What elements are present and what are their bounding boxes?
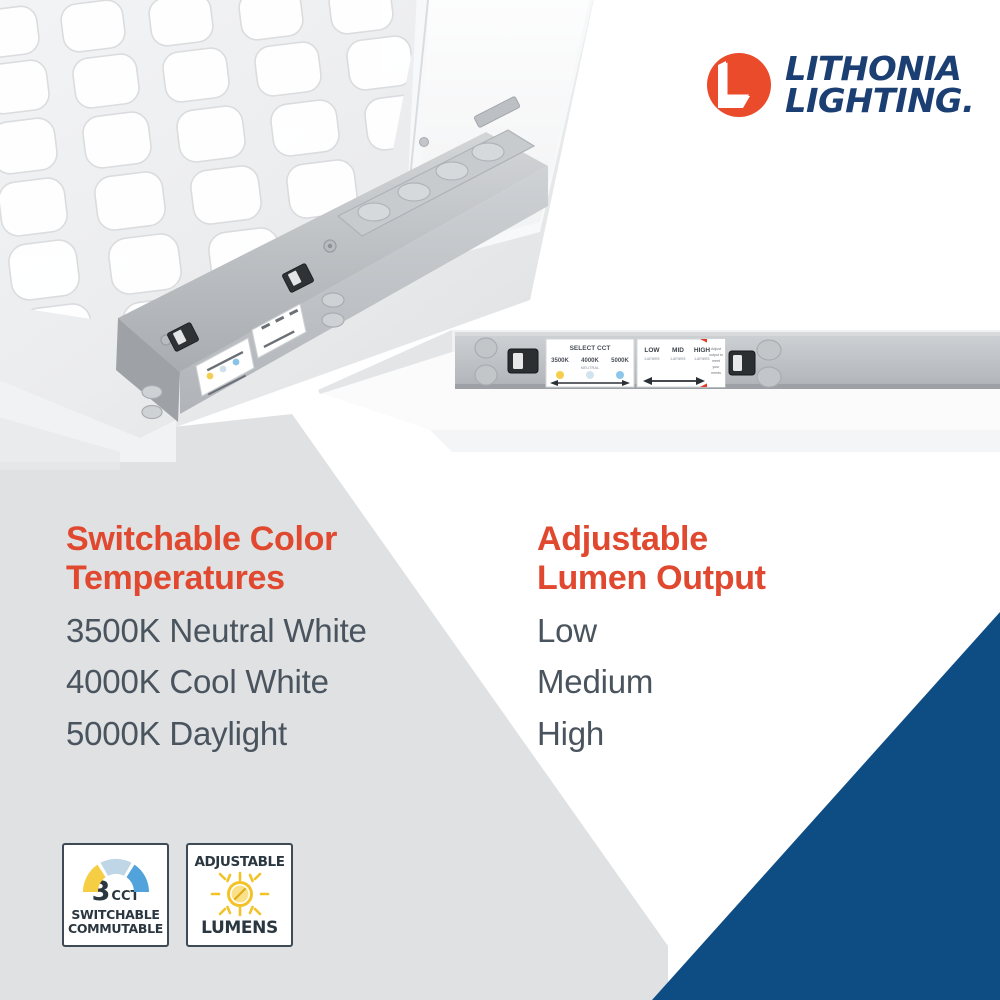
feature-item-medium: Medium [537, 656, 917, 707]
cct-arc-svg [77, 854, 155, 894]
svg-text:your: your [713, 365, 721, 369]
marketing-image-canvas: SELECT CCT 3500K 4000K 5000K NEUTRAL [0, 0, 1000, 1000]
feature-list-cct: 3500K Neutral White 4000K Cool White 500… [66, 605, 496, 759]
lumens-bottom-label: LUMENS [201, 918, 278, 938]
feature-heading-switchable: Switchable Color Temperatures [66, 520, 496, 599]
feature-item-low: Low [537, 605, 917, 656]
feature-item-5000k: 5000K Daylight [66, 708, 496, 759]
feature-columns: Switchable Color Temperatures 3500K Neut… [0, 520, 1000, 820]
cct-option-sub: NEUTRAL [581, 365, 600, 370]
cct-dot-neutral [586, 371, 594, 379]
cct-dot-cool [616, 371, 624, 379]
lumen-sub-low: Lumens [645, 356, 660, 361]
lithonia-lighting-logo: LITHONIA LIGHTING. [706, 44, 956, 126]
feature-heading-line-1: Switchable Color [66, 520, 496, 559]
feature-heading-adjustable: Adjustable Lumen Output [537, 520, 917, 599]
feature-item-4000k: 4000K Cool White [66, 656, 496, 707]
svg-text:needs: needs [711, 371, 721, 375]
sun-icon [210, 871, 270, 917]
feature-column-switchable-color-temperatures: Switchable Color Temperatures 3500K Neut… [66, 520, 496, 759]
feature-list-lumens: Low Medium High [537, 605, 917, 759]
cct-option-3500k: 3500K [551, 358, 569, 364]
feature-heading-line-2: Lumen Output [537, 559, 917, 598]
closeup-underside [430, 430, 1000, 452]
lumen-sub-high: Lumens [695, 356, 710, 361]
closeup-channel-highlight [455, 332, 1000, 336]
feature-item-3500k: 3500K Neutral White [66, 605, 496, 656]
logo-wordmark: LITHONIA LIGHTING. [785, 53, 971, 117]
lumen-sub-mid: Lumens [671, 356, 686, 361]
closeup-channel-shadow [455, 384, 1000, 389]
feature-heading-line-2: Temperatures [66, 559, 496, 598]
cct-subtext-line-2: COMMUTABLE [68, 922, 163, 936]
feature-item-high: High [537, 708, 917, 759]
feature-heading-line-1: Adjustable [537, 520, 917, 559]
lumens-top-label: ADJUSTABLE [194, 854, 284, 870]
svg-text:output to: output to [709, 353, 723, 357]
lumen-option-mid: MID [672, 347, 684, 354]
photo-driver-housing-closeup: SELECT CCT 3500K 4000K 5000K NEUTRAL [318, 330, 1000, 452]
cct-switch-toggle [513, 353, 523, 369]
lithonia-swoosh-mark [706, 52, 772, 118]
certification-badges: 3 CCT SWITCHABLE COMMUTABLE ADJUSTABLE [62, 843, 293, 947]
cct-label-title: SELECT CCT [570, 345, 611, 352]
badge-adjustable-lumens: ADJUSTABLE [186, 843, 293, 947]
feature-column-adjustable-lumen-output: Adjustable Lumen Output Low Medium High [537, 520, 917, 759]
svg-text:meet: meet [712, 359, 720, 363]
badge-3cct-switchable: 3 CCT SWITCHABLE COMMUTABLE [62, 843, 169, 947]
lumen-option-low: LOW [644, 347, 660, 354]
swoosh-icon [706, 52, 772, 118]
cct-subtext: SWITCHABLE COMMUTABLE [68, 908, 163, 936]
logo-line-lighting: LIGHTING. [785, 85, 974, 117]
cct-arc-icon [77, 854, 155, 894]
sun-icon-svg [210, 871, 270, 917]
svg-text:Adjust: Adjust [711, 347, 721, 351]
lumen-switch-toggle [733, 355, 742, 371]
cct-subtext-line-1: SWITCHABLE [68, 908, 163, 922]
cct-option-4000k: 4000K [581, 358, 599, 364]
cct-option-5000k: 5000K [611, 358, 629, 364]
lumen-option-high: HIGH [694, 347, 711, 354]
cct-dot-warm [556, 371, 564, 379]
